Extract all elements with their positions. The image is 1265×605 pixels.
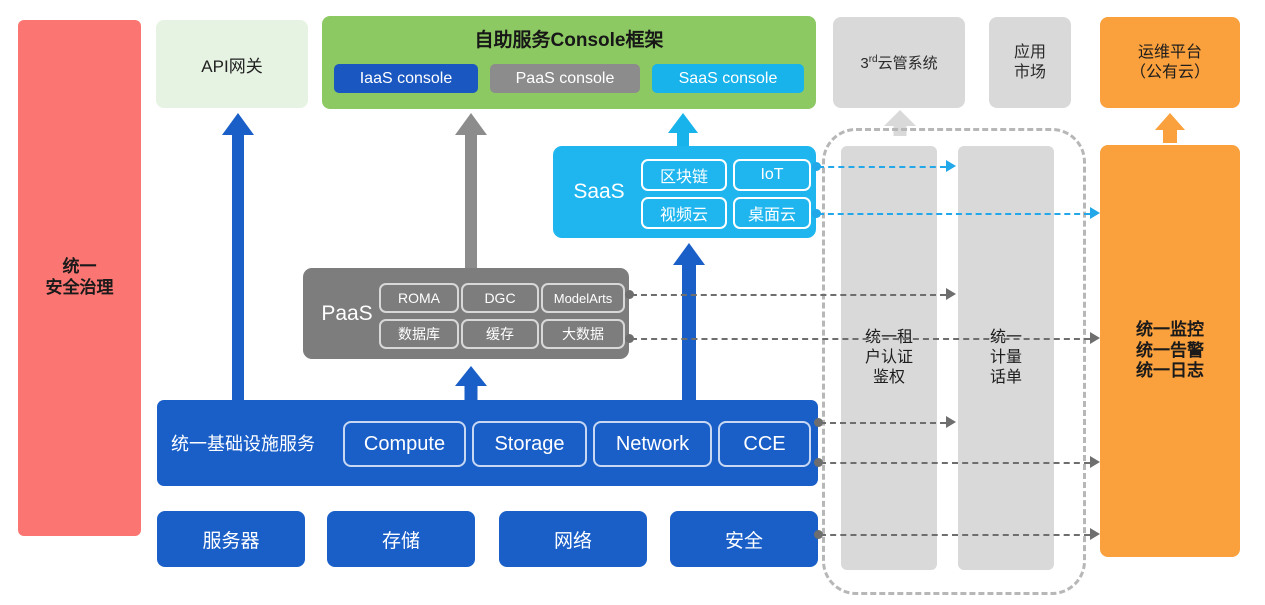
connector-arrowhead-infra-auth (946, 416, 956, 428)
third-party-cloud-management-box: 3rd云管系统 (833, 17, 965, 108)
connector-arrowhead-paas-ops (1090, 332, 1100, 344)
infra-chip-compute[interactable]: Compute (343, 421, 466, 467)
saas-console-chip[interactable]: SaaS console (652, 64, 804, 93)
architecture-diagram: 统一 安全治理 API网关 自助服务Console框架 IaaS console… (0, 0, 1265, 605)
connector-arrowhead-saas-auth (946, 160, 956, 172)
self-service-console-framework: 自助服务Console框架 IaaS console PaaS console … (322, 16, 816, 109)
ops-platform-header-box: 运维平台 （公有云） (1100, 17, 1240, 108)
connector-paas-to-auth (631, 294, 946, 296)
arrow-ops-body-to-ops-header (1155, 113, 1185, 143)
connector-infra-to-ops (820, 462, 1090, 464)
saas-layer: SaaS 区块链 IoT 视频云 桌面云 (553, 146, 816, 238)
unified-tenant-auth-column: 统一租 户认证 鉴权 (841, 146, 937, 570)
hardware-box-network[interactable]: 网络 (499, 511, 647, 567)
infra-chip-cce[interactable]: CCE (718, 421, 811, 467)
saas-chip-iot[interactable]: IoT (733, 159, 811, 191)
hardware-box-storage[interactable]: 存储 (327, 511, 475, 567)
paas-layer-label: PaaS (311, 268, 383, 359)
paas-chip-dgc[interactable]: DGC (461, 283, 539, 313)
unified-infrastructure-service-bar: 统一基础设施服务 Compute Storage Network CCE (157, 400, 818, 486)
third-cloud-label: 3rd云管系统 (860, 52, 937, 73)
unified-security-governance-pillar: 统一 安全治理 (18, 20, 141, 536)
paas-layer: PaaS ROMA DGC ModelArts 数据库 缓存 大数据 (303, 268, 629, 359)
arrow-paas-to-console (455, 113, 487, 271)
paas-chip-bigdata[interactable]: 大数据 (541, 319, 625, 349)
console-framework-title: 自助服务Console框架 (322, 25, 816, 52)
saas-layer-label: SaaS (563, 146, 635, 238)
paas-chip-roma[interactable]: ROMA (379, 283, 459, 313)
infra-bar-label: 统一基础设施服务 (171, 400, 315, 486)
connector-paas-to-ops (631, 338, 1090, 340)
paas-chip-modelarts[interactable]: ModelArts (541, 283, 625, 313)
connector-infra-to-auth (820, 422, 946, 424)
infra-chip-storage[interactable]: Storage (472, 421, 587, 467)
connector-saas-to-ops (818, 213, 1090, 215)
paas-console-chip[interactable]: PaaS console (490, 64, 640, 93)
paas-chip-cache[interactable]: 缓存 (461, 319, 539, 349)
infra-chip-network[interactable]: Network (593, 421, 712, 467)
unified-monitoring-alarm-log-box: 统一监控 统一告警 统一日志 (1100, 145, 1240, 557)
saas-chip-desktop-cloud[interactable]: 桌面云 (733, 197, 811, 229)
connector-arrowhead-saas-ops (1090, 207, 1100, 219)
connector-arrowhead-hardware-ops (1090, 528, 1100, 540)
connector-saas-to-auth (818, 166, 946, 168)
arrow-infra-to-paas (455, 366, 487, 404)
iaas-console-chip[interactable]: IaaS console (334, 64, 478, 93)
api-gateway-box: API网关 (156, 20, 308, 108)
paas-chip-database[interactable]: 数据库 (379, 319, 459, 349)
saas-chip-video-cloud[interactable]: 视频云 (641, 197, 727, 229)
connector-arrowhead-paas-auth (946, 288, 956, 300)
arrow-infra-to-api-gateway (222, 113, 254, 403)
arrow-infra-to-saas (673, 243, 705, 403)
hardware-box-security[interactable]: 安全 (670, 511, 818, 567)
app-market-box: 应用 市场 (989, 17, 1071, 108)
connector-hardware-to-ops (820, 534, 1090, 536)
connector-arrowhead-infra-ops (1090, 456, 1100, 468)
unified-metering-billing-column: 统一 计量 话单 (958, 146, 1054, 570)
hardware-box-server[interactable]: 服务器 (157, 511, 305, 567)
saas-chip-blockchain[interactable]: 区块链 (641, 159, 727, 191)
